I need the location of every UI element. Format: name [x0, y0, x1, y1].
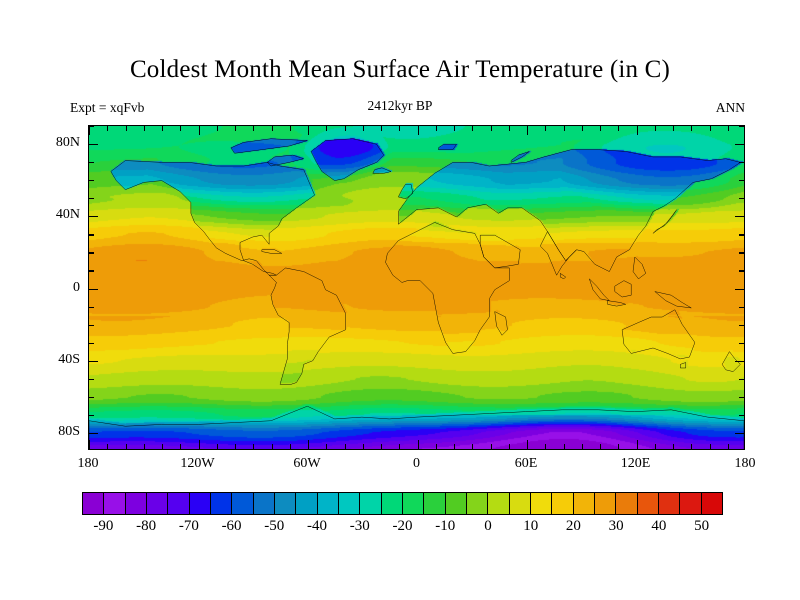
x-axis-tick-top: [418, 126, 419, 135]
colorbar-tick-label: 30: [609, 518, 624, 535]
y-axis-tick: [89, 307, 94, 308]
x-axis-tick-top: [637, 126, 638, 135]
x-axis-tick: [436, 444, 437, 449]
colorbar-tick-label: -40: [307, 518, 327, 535]
x-axis-tick: [345, 444, 346, 449]
coastline: [111, 161, 315, 276]
x-axis-tick-top: [399, 126, 400, 131]
x-axis-tick-top: [381, 126, 382, 131]
x-axis-label: 180: [78, 456, 99, 472]
x-axis-tick-top: [144, 126, 145, 131]
x-axis-tick: [491, 444, 492, 449]
colorbar-cell: [510, 493, 531, 514]
map-plot-area: [88, 125, 745, 450]
x-axis-tick: [618, 444, 619, 449]
x-axis-tick-top: [217, 126, 218, 131]
coastline: [633, 257, 646, 279]
x-axis-tick: [399, 444, 400, 449]
colorbar-tick-label: 0: [484, 518, 492, 535]
x-axis-tick: [235, 444, 236, 449]
x-axis-tick-top: [107, 126, 108, 131]
coastline: [680, 363, 685, 368]
x-axis-tick: [691, 444, 692, 449]
colorbar-tick-label: -70: [179, 518, 199, 535]
colorbar-cell: [147, 493, 168, 514]
colorbar-cell: [488, 493, 509, 514]
colorbar-cell: [382, 493, 403, 514]
x-axis-tick: [363, 444, 364, 449]
x-axis-tick-top: [710, 126, 711, 131]
colorbar-tick-label: 10: [523, 518, 538, 535]
y-axis-tick: [89, 252, 94, 253]
y-axis-tick: [89, 343, 94, 344]
colorbar-tick-label: -50: [264, 518, 284, 535]
colorbar-cell: [680, 493, 701, 514]
x-axis-tick-top: [655, 126, 656, 131]
x-axis-tick-top: [600, 126, 601, 131]
colorbar-tick-label: -30: [350, 518, 370, 535]
colorbar-tick-label: -90: [93, 518, 113, 535]
x-axis-tick: [253, 444, 254, 449]
colorbar-cell: [126, 493, 147, 514]
y-axis-tick-right: [739, 415, 744, 416]
x-axis-tick: [290, 444, 291, 449]
coastline: [269, 268, 345, 384]
x-axis-tick-top: [235, 126, 236, 131]
y-axis-tick-right: [739, 270, 744, 271]
coastline: [615, 281, 631, 297]
y-axis-tick-right: [739, 126, 744, 127]
y-axis-tick-right: [735, 216, 744, 217]
period-label: 2412kyr BP: [0, 98, 800, 114]
x-axis-tick: [326, 444, 327, 449]
y-axis-tick: [89, 234, 94, 235]
coastline: [655, 292, 691, 308]
colorbar-cell: [467, 493, 488, 514]
colorbar: [82, 492, 723, 515]
x-axis-tick-top: [582, 126, 583, 131]
colorbar-tick-label: -60: [222, 518, 242, 535]
y-axis-tick-right: [739, 307, 744, 308]
x-axis-tick-top: [308, 126, 309, 135]
colorbar-cell: [616, 493, 637, 514]
colorbar-cell: [574, 493, 595, 514]
y-axis-tick-right: [735, 361, 744, 362]
colorbar-cell: [446, 493, 467, 514]
y-axis-label: 80S: [34, 424, 80, 440]
coastline: [262, 250, 282, 254]
coastline: [311, 139, 384, 181]
colorbar-cell: [424, 493, 445, 514]
x-axis-tick: [418, 440, 419, 449]
x-axis-tick-top: [545, 126, 546, 131]
x-axis-label: 60E: [515, 456, 538, 472]
coastline: [560, 273, 565, 278]
page-title: Coldest Month Mean Surface Air Temperatu…: [0, 56, 800, 84]
x-axis-tick-top: [180, 126, 181, 131]
x-axis-tick: [564, 444, 565, 449]
y-axis-tick: [89, 361, 98, 362]
x-axis-tick-top: [673, 126, 674, 131]
x-axis-tick: [272, 444, 273, 449]
coastline: [480, 235, 520, 268]
y-axis-tick: [89, 397, 94, 398]
coastline: [438, 144, 456, 149]
y-axis-tick-right: [739, 252, 744, 253]
coastline: [622, 310, 695, 359]
x-axis-tick-top: [728, 126, 729, 131]
x-axis-tick-top: [509, 126, 510, 131]
coastline: [89, 406, 744, 450]
x-axis-tick: [162, 444, 163, 449]
x-axis-tick: [472, 444, 473, 449]
colorbar-tick-label: 40: [651, 518, 666, 535]
x-axis-tick: [89, 440, 90, 449]
coastline-overlay: [89, 126, 744, 450]
colorbar-cell: [83, 493, 104, 514]
x-axis-tick-top: [472, 126, 473, 131]
y-axis-tick: [89, 144, 98, 145]
colorbar-cell: [360, 493, 381, 514]
coastline: [386, 222, 510, 353]
y-axis-tick-right: [739, 162, 744, 163]
colorbar-cell: [168, 493, 189, 514]
coastline: [398, 150, 740, 272]
colorbar-cell: [254, 493, 275, 514]
y-axis-tick-right: [739, 234, 744, 235]
x-axis-tick-top: [691, 126, 692, 131]
y-axis-tick: [89, 433, 98, 434]
colorbar-cell: [595, 493, 616, 514]
x-axis-tick-top: [618, 126, 619, 131]
coastline: [398, 184, 413, 199]
y-axis-tick-right: [739, 397, 744, 398]
x-axis-tick-top: [564, 126, 565, 131]
colorbar-cell: [531, 493, 552, 514]
x-axis-tick: [308, 440, 309, 449]
coastline: [540, 232, 576, 276]
y-axis-tick: [89, 415, 94, 416]
y-axis-tick: [89, 162, 94, 163]
x-axis-tick: [545, 444, 546, 449]
coastline: [231, 139, 307, 154]
x-axis-tick-top: [326, 126, 327, 131]
x-axis-label: 180: [735, 456, 756, 472]
y-axis-label: 40S: [34, 352, 80, 368]
y-axis-tick: [89, 289, 98, 290]
coastline: [267, 155, 303, 166]
coastline: [373, 168, 391, 173]
x-axis-label: 120E: [621, 456, 651, 472]
x-axis-tick-top: [253, 126, 254, 131]
x-axis-tick: [107, 444, 108, 449]
colorbar-cell: [702, 493, 722, 514]
x-axis-tick-top: [162, 126, 163, 131]
colorbar-cell: [104, 493, 125, 514]
x-axis-tick-top: [454, 126, 455, 131]
x-axis-label: 0: [413, 456, 420, 472]
y-axis-tick: [89, 325, 94, 326]
colorbar-tick-label: -10: [435, 518, 455, 535]
coastline: [653, 210, 677, 234]
x-axis-label: 120W: [180, 456, 214, 472]
colorbar-tick-label: -20: [393, 518, 413, 535]
colorbar-cell: [552, 493, 573, 514]
colorbar-cell: [638, 493, 659, 514]
y-axis-tick-right: [735, 289, 744, 290]
colorbar-cell: [318, 493, 339, 514]
x-axis-tick: [673, 444, 674, 449]
x-axis-tick-top: [436, 126, 437, 131]
x-axis-tick: [509, 444, 510, 449]
x-axis-tick: [637, 440, 638, 449]
colorbar-tick-label: -80: [136, 518, 156, 535]
y-axis-tick: [89, 180, 94, 181]
x-axis-tick: [126, 444, 127, 449]
season-label: ANN: [716, 100, 745, 116]
x-axis-label: 60W: [293, 456, 320, 472]
y-axis-tick-right: [735, 144, 744, 145]
coastline: [589, 279, 609, 301]
x-axis-tick: [655, 444, 656, 449]
colorbar-tick-label: 50: [694, 518, 709, 535]
y-axis-tick-right: [739, 198, 744, 199]
colorbar-tick-label: 20: [566, 518, 581, 535]
y-axis-label: 40N: [34, 207, 80, 223]
y-axis-tick-right: [739, 325, 744, 326]
coastline: [608, 301, 626, 306]
colorbar-cell: [659, 493, 680, 514]
x-axis-tick: [527, 440, 528, 449]
x-axis-tick: [600, 444, 601, 449]
x-axis-tick: [381, 444, 382, 449]
x-axis-tick-top: [363, 126, 364, 131]
y-axis-tick: [89, 126, 94, 127]
x-axis-tick: [710, 444, 711, 449]
colorbar-cell: [190, 493, 211, 514]
colorbar-cell: [232, 493, 253, 514]
colorbar-cell: [296, 493, 317, 514]
x-axis-tick-top: [290, 126, 291, 131]
colorbar-cell: [339, 493, 360, 514]
y-axis-tick: [89, 379, 94, 380]
y-axis-tick-right: [739, 180, 744, 181]
x-axis-tick-top: [89, 126, 90, 135]
y-axis-label: 0: [34, 280, 80, 296]
y-axis-tick: [89, 198, 94, 199]
x-axis-tick: [144, 444, 145, 449]
x-axis-tick: [180, 444, 181, 449]
y-axis-label: 80N: [34, 135, 80, 151]
y-axis-tick: [89, 216, 98, 217]
y-axis-tick-right: [739, 379, 744, 380]
x-axis-tick: [454, 444, 455, 449]
x-axis-tick: [199, 440, 200, 449]
coastline: [511, 151, 529, 162]
x-axis-tick: [728, 444, 729, 449]
y-axis-labels: 80N40N040S80S: [0, 0, 80, 600]
y-axis-tick-right: [739, 343, 744, 344]
y-axis-tick: [89, 270, 94, 271]
x-axis-tick: [582, 444, 583, 449]
x-axis-tick-top: [126, 126, 127, 131]
x-axis-tick-top: [345, 126, 346, 131]
colorbar-cell: [403, 493, 424, 514]
x-axis-tick-top: [491, 126, 492, 131]
coastline: [495, 312, 508, 336]
x-axis-tick: [217, 444, 218, 449]
x-axis-tick-top: [199, 126, 200, 135]
colorbar-cell: [211, 493, 232, 514]
x-axis-tick-top: [527, 126, 528, 135]
x-axis-tick-top: [272, 126, 273, 131]
colorbar-cell: [275, 493, 296, 514]
y-axis-tick-right: [735, 433, 744, 434]
